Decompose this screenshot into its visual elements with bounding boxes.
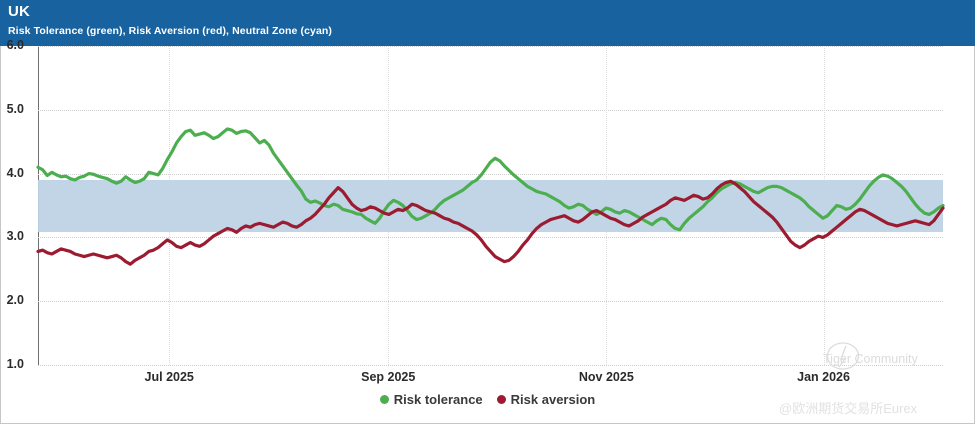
y-axis-tick-label: 4.0 <box>0 166 24 180</box>
gridline-y <box>38 365 943 367</box>
legend-item-risk-aversion[interactable]: Risk aversion <box>497 392 596 407</box>
legend-color-dot-icon <box>497 395 506 404</box>
x-axis-tick-label: Jul 2025 <box>145 370 194 384</box>
y-axis-tick-label: 1.0 <box>0 357 24 371</box>
plot-area <box>38 46 943 365</box>
chart-screenshot: UK Risk Tolerance (green), Risk Aversion… <box>0 0 975 424</box>
y-axis-tick-label: 6.0 <box>0 38 24 52</box>
legend-item-risk-tolerance[interactable]: Risk tolerance <box>380 392 483 407</box>
legend-label: Risk tolerance <box>394 392 483 407</box>
chart-subtitle: Risk Tolerance (green), Risk Aversion (r… <box>8 24 975 38</box>
y-axis-tick-label: 2.0 <box>0 293 24 307</box>
chart-legend: Risk tolerance Risk aversion <box>0 392 975 407</box>
x-axis-tick-label: Nov 2025 <box>579 370 634 384</box>
series-line-risk-aversion <box>38 181 943 264</box>
chart-header: UK Risk Tolerance (green), Risk Aversion… <box>0 0 975 46</box>
legend-color-dot-icon <box>380 395 389 404</box>
x-axis-tick-label: Jan 2026 <box>797 370 850 384</box>
y-axis-tick-label: 5.0 <box>0 102 24 116</box>
series-line-risk-tolerance <box>38 129 943 230</box>
series-lines <box>38 46 943 365</box>
x-axis-tick-label: Sep 2025 <box>361 370 415 384</box>
legend-label: Risk aversion <box>511 392 596 407</box>
y-axis-tick-label: 3.0 <box>0 229 24 243</box>
page-title: UK <box>8 3 975 21</box>
